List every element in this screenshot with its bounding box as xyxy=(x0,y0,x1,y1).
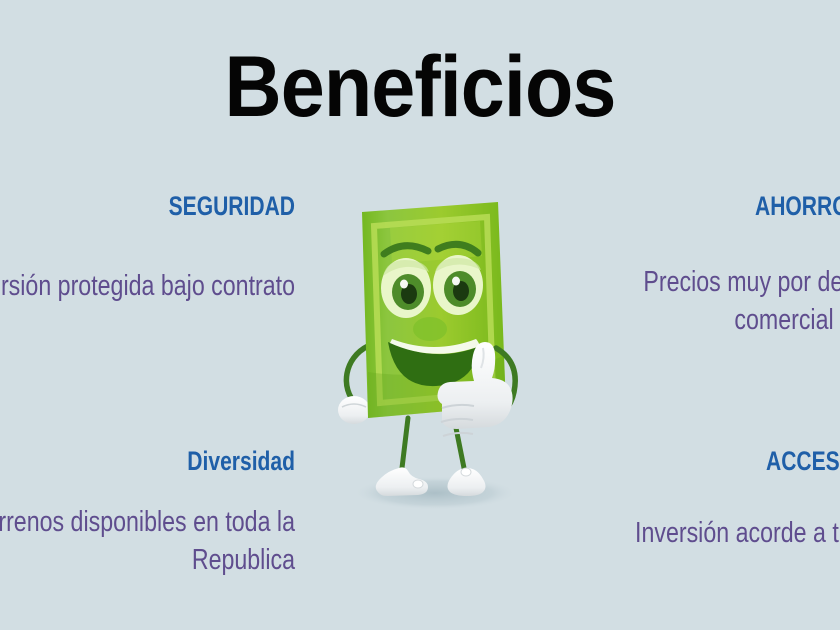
benefit-diversidad-body-line1: Terrenos disponibles en toda la xyxy=(0,504,295,542)
benefit-accesibilidad: ACCESIBILIDAD Inversión acorde a tu bols… xyxy=(600,447,840,553)
benefit-accesibilidad-body: Inversión acorde a tu bolsillo xyxy=(635,515,840,553)
benefit-diversidad: Diversidad Terrenos disponibles en toda … xyxy=(0,447,295,580)
benefit-diversidad-body-line2: Republica xyxy=(0,542,295,580)
benefit-diversidad-heading: Diversidad xyxy=(0,447,295,475)
benefit-seguridad-body: Inversión protegida bajo contrato xyxy=(0,268,295,306)
slide-canvas: Beneficios SEGURIDAD Inversión protegida… xyxy=(0,0,840,630)
money-character-illustration xyxy=(330,196,540,526)
benefit-ahorro-body-line2: comercial xyxy=(600,302,840,340)
character-left-leg xyxy=(402,418,408,468)
character-left-glove xyxy=(338,396,370,424)
benefit-seguridad-heading: SEGURIDAD xyxy=(0,192,295,220)
benefit-diversidad-body: Terrenos disponibles en toda la Republic… xyxy=(0,504,295,579)
character-left-arm xyxy=(346,346,368,404)
character-nose xyxy=(413,317,447,341)
benefit-accesibilidad-heading: ACCESIBILIDAD xyxy=(766,447,840,475)
benefit-ahorro-body: Precios muy por debajo del comercial xyxy=(600,264,840,339)
benefit-ahorro-heading: AHORRO xyxy=(755,192,840,220)
benefit-ahorro: AHORRO Precios muy por debajo del comerc… xyxy=(600,192,840,340)
page-title: Beneficios xyxy=(34,44,807,130)
benefit-ahorro-body-line1: Precios muy por debajo del xyxy=(600,264,840,302)
benefit-seguridad: SEGURIDAD Inversión protegida bajo contr… xyxy=(0,192,295,306)
character-shadow xyxy=(353,476,517,510)
